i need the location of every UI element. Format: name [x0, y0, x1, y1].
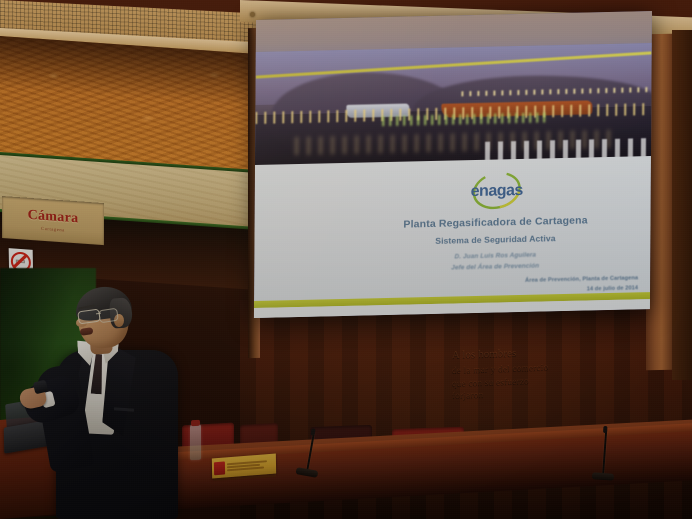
- water-bottle: [190, 424, 201, 461]
- slide-subtitle: Sistema de Seguridad Activa: [350, 231, 640, 248]
- projection-screen: enagas Planta Regasificadora de Cartagen…: [254, 11, 652, 318]
- enagas-logo: enagas: [451, 168, 543, 212]
- slide-header-photo: [255, 43, 652, 168]
- presenter-glasses-lens-right: [98, 308, 119, 324]
- presenter: [18, 288, 190, 519]
- camara-sign-subtitle: Cartagena: [41, 225, 65, 232]
- microphone: [592, 429, 617, 476]
- wall-right-edge: [672, 30, 692, 380]
- water-bottle-cap: [191, 420, 200, 426]
- svg-text:enagas: enagas: [471, 182, 524, 200]
- camara-sign: Cámara Cartagena: [2, 196, 104, 245]
- slide-text-block: Planta Regasificadora de Cartagena Siste…: [350, 212, 640, 274]
- nameplate-text: [227, 460, 274, 471]
- slide-presenter-role: Jefe del Área de Prevención: [350, 260, 640, 274]
- nameplate-logo-icon: [214, 461, 225, 475]
- camara-sign-label: Cámara: [28, 208, 79, 226]
- slide-body: enagas Planta Regasificadora de Cartagen…: [254, 156, 651, 318]
- presentation-room-photo: Cámara Cartagena NO FUMAR A los hombres …: [0, 0, 692, 519]
- beam-bolt: [250, 12, 255, 17]
- slide-title: Planta Regasificadora de Cartagena: [350, 212, 640, 233]
